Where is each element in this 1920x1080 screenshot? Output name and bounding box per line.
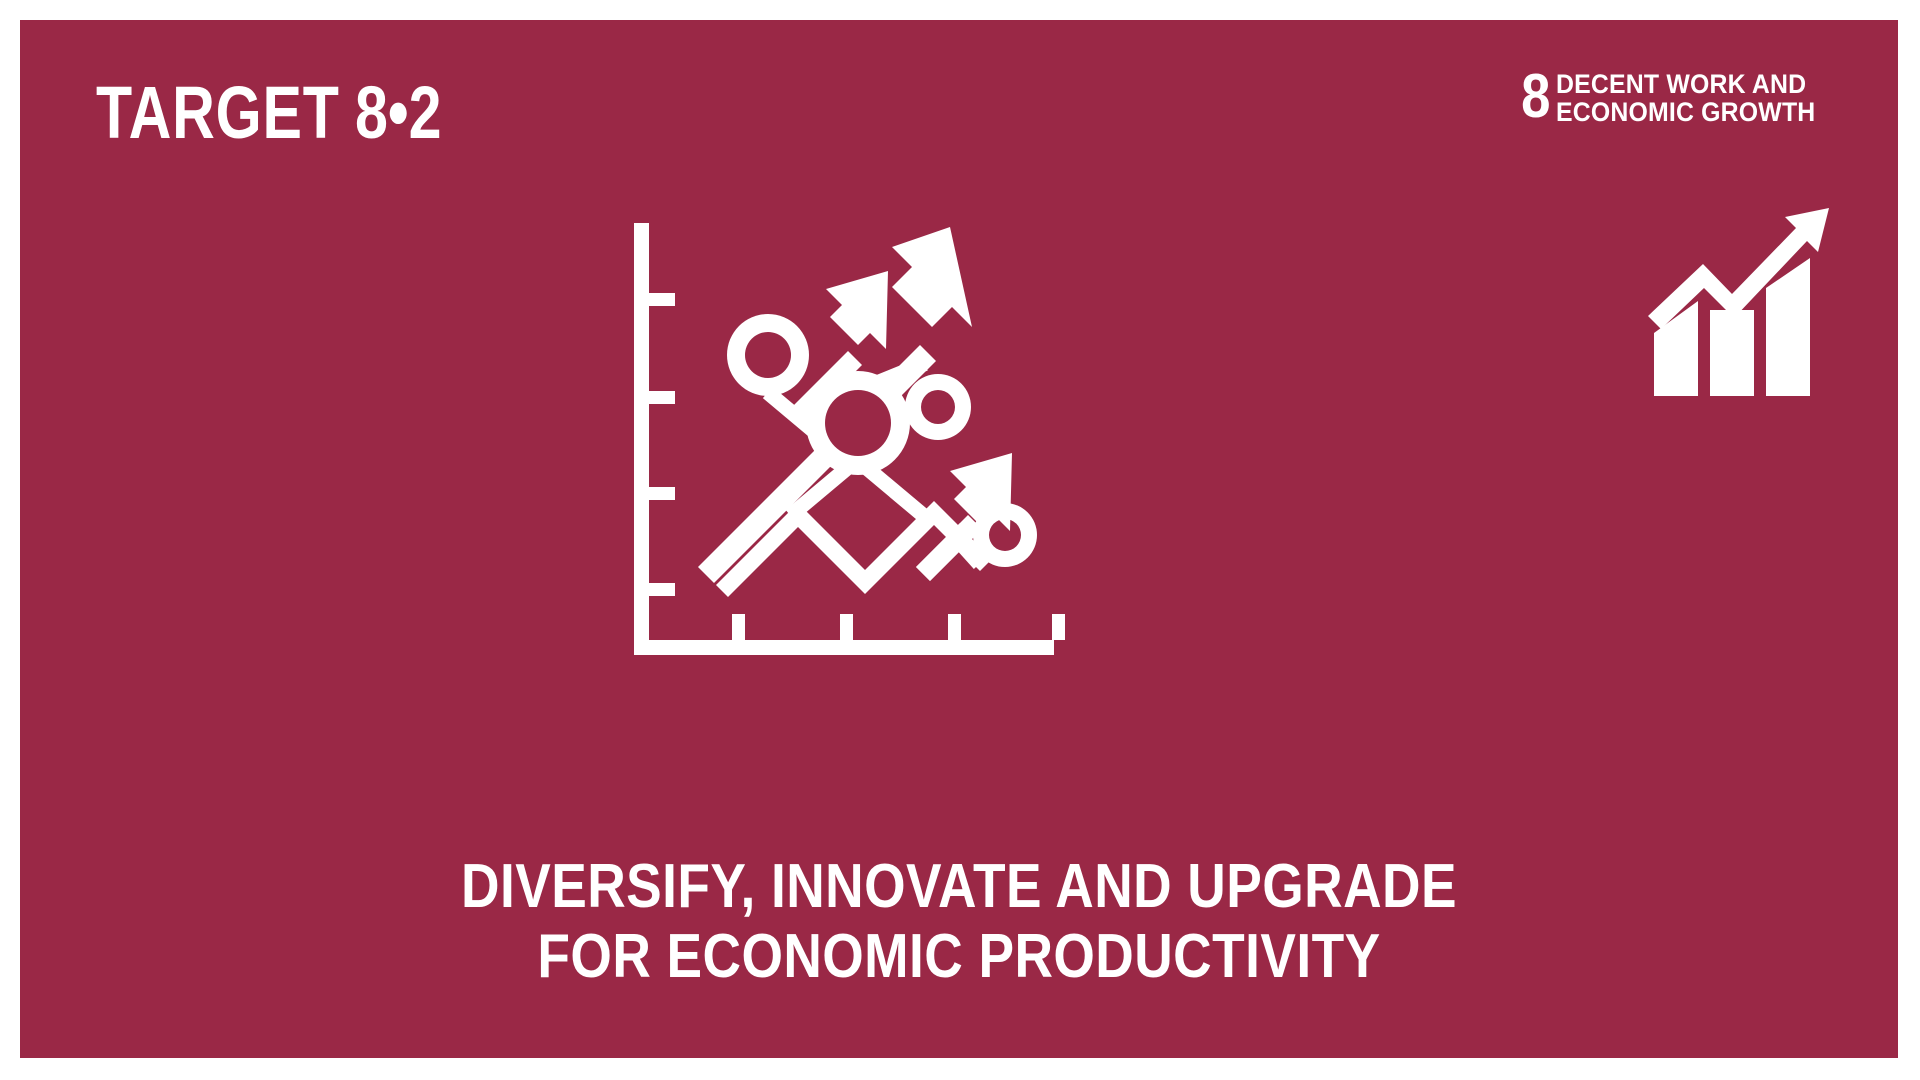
sdg-goal-number: 8 xyxy=(1521,68,1550,125)
x-axis xyxy=(634,640,1054,655)
caption-line-2: FOR ECONOMIC PRODUCTIVITY xyxy=(151,922,1766,992)
caption: DIVERSIFY, INNOVATE AND UPGRADE FOR ECON… xyxy=(20,852,1898,992)
node-upper-left xyxy=(727,314,809,396)
diversify-innovate-chart-icon xyxy=(620,215,1180,695)
caption-line-1: DIVERSIFY, INNOVATE AND UPGRADE xyxy=(151,852,1766,922)
node-right xyxy=(905,374,971,440)
sdg-badge: 8 DECENT WORK AND ECONOMIC GROWTH xyxy=(1516,68,1838,126)
growth-bar-chart-icon xyxy=(1646,198,1836,403)
sdg-goal-title: DECENT WORK AND ECONOMIC GROWTH xyxy=(1556,68,1838,126)
poster-panel: TARGET 8•2 8 DECENT WORK AND ECONOMIC GR… xyxy=(20,20,1898,1058)
page-title: TARGET 8•2 xyxy=(96,76,463,150)
target-number: 8•2 xyxy=(355,76,442,150)
sdg-goal-title-line-1: DECENT WORK AND xyxy=(1556,71,1815,99)
y-axis xyxy=(634,223,649,655)
target-word: TARGET xyxy=(96,76,340,150)
sdg-goal-title-line-2: ECONOMIC GROWTH xyxy=(1556,99,1815,127)
